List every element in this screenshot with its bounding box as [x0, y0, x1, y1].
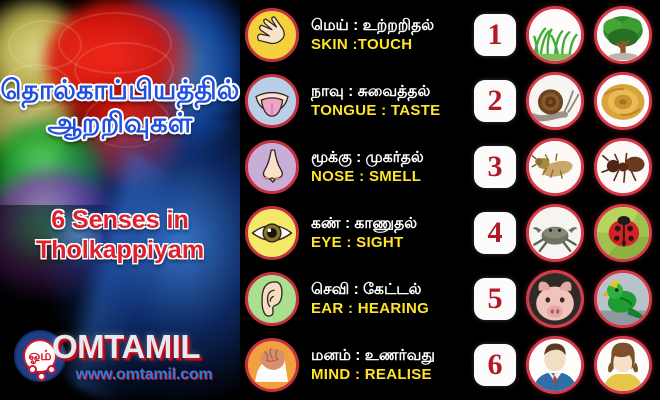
- brain-head-icon: [245, 338, 299, 392]
- tongue-icon: [245, 74, 299, 128]
- row-number-badge: 2: [474, 80, 516, 122]
- termite-photo: [526, 138, 584, 196]
- page-title-tamil: தொல்காப்பியத்தில் ஆறறிவுகள்: [0, 74, 240, 140]
- table-row[interactable]: கண் : காணுதல் EYE : SIGHT 4: [240, 200, 660, 266]
- row-labels: செவி : கேட்டல் EAR : HEARING: [299, 280, 474, 318]
- subtitle-line-1: 6 Senses in: [0, 206, 240, 236]
- nose-icon: [245, 140, 299, 194]
- table-row[interactable]: மெய் : உற்றறிதல் SKIN :TOUCH 1: [240, 2, 660, 68]
- senses-table: மெய் : உற்றறிதல் SKIN :TOUCH 1: [240, 0, 660, 400]
- hand-icon: [245, 8, 299, 62]
- grass-photo: [526, 6, 584, 64]
- omtamil-logo[interactable]: ஓம் OMTAMIL www.omtamil.com: [14, 328, 226, 390]
- tree-photo: [594, 6, 652, 64]
- page-subtitle-english: 6 Senses in Tholkappiyam: [0, 206, 240, 265]
- row-labels: மெய் : உற்றறிதல் SKIN :TOUCH: [299, 16, 474, 54]
- row-label-english: TONGUE : TASTE: [311, 101, 474, 120]
- row-photos: [526, 6, 660, 64]
- row-photos: [526, 204, 660, 262]
- parrot-photo: [594, 270, 652, 328]
- row-label-english: NOSE : SMELL: [311, 167, 474, 186]
- row-number-badge: 5: [474, 278, 516, 320]
- pig-photo: [526, 270, 584, 328]
- title-tamil-line-1: தொல்காப்பியத்தில்: [0, 74, 240, 107]
- row-labels: மனம் : உணர்வது MIND : REALISE: [299, 346, 474, 384]
- row-label-english: EYE : SIGHT: [311, 233, 474, 252]
- row-number-badge: 6: [474, 344, 516, 386]
- table-row[interactable]: மனம் : உணர்வது MIND : REALISE 6: [240, 332, 660, 398]
- row-labels: நாவு : சுவைத்தல் TONGUE : TASTE: [299, 82, 474, 120]
- logo-website-url[interactable]: www.omtamil.com: [58, 366, 230, 384]
- snail-photo: [526, 72, 584, 130]
- crab-photo: [526, 204, 584, 262]
- row-number-badge: 1: [474, 14, 516, 56]
- table-row[interactable]: நாவு : சுவைத்தல் TONGUE : TASTE 2: [240, 68, 660, 134]
- row-number-badge: 3: [474, 146, 516, 188]
- table-row[interactable]: செவி : கேட்டல் EAR : HEARING 5: [240, 266, 660, 332]
- row-photos: [526, 72, 660, 130]
- row-label-tamil: செவி : கேட்டல்: [311, 280, 474, 299]
- row-label-tamil: மூக்கு : முகர்தல்: [311, 148, 474, 167]
- infographic-canvas: தொல்காப்பியத்தில் ஆறறிவுகள் 6 Senses in …: [0, 0, 660, 400]
- row-label-english: EAR : HEARING: [311, 299, 474, 318]
- subtitle-line-2: Tholkappiyam: [0, 236, 240, 266]
- row-photos: [526, 138, 660, 196]
- row-label-english: MIND : REALISE: [311, 365, 474, 384]
- shell-photo: [594, 72, 652, 130]
- row-number-badge: 4: [474, 212, 516, 254]
- woman-photo: [594, 336, 652, 394]
- ear-icon: [245, 272, 299, 326]
- row-photos: [526, 270, 660, 328]
- row-label-tamil: மெய் : உற்றறிதல்: [311, 16, 474, 35]
- row-labels: மூக்கு : முகர்தல் NOSE : SMELL: [299, 148, 474, 186]
- row-label-tamil: கண் : காணுதல்: [311, 214, 474, 233]
- man-photo: [526, 336, 584, 394]
- row-label-english: SKIN :TOUCH: [311, 35, 474, 54]
- left-panel: தொல்காப்பியத்தில் ஆறறிவுகள் 6 Senses in …: [0, 0, 240, 400]
- logo-wordmark: OMTAMIL: [52, 328, 228, 366]
- row-photos: [526, 336, 660, 394]
- ant-photo: [594, 138, 652, 196]
- eye-icon: [245, 206, 299, 260]
- row-labels: கண் : காணுதல் EYE : SIGHT: [299, 214, 474, 252]
- row-label-tamil: நாவு : சுவைத்தல்: [311, 82, 474, 101]
- table-row[interactable]: மூக்கு : முகர்தல் NOSE : SMELL 3: [240, 134, 660, 200]
- row-label-tamil: மனம் : உணர்வது: [311, 346, 474, 365]
- title-tamil-line-2: ஆறறிவுகள்: [0, 107, 240, 140]
- ladybug-photo: [594, 204, 652, 262]
